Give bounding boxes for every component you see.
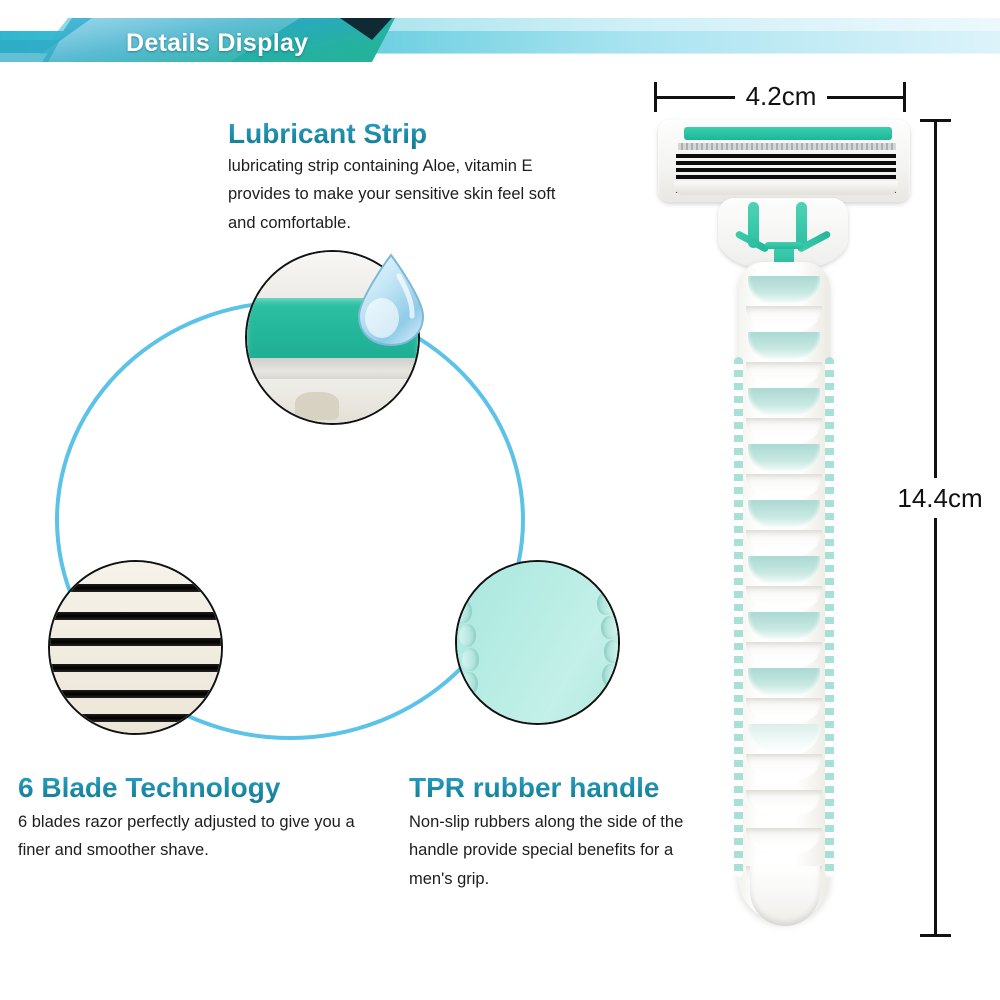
feature-heading-lubricant: Lubricant Strip (228, 118, 427, 150)
razor-pivot-head (718, 198, 848, 270)
handle-grip-right (825, 357, 834, 877)
blade-stripes-photo (50, 562, 221, 733)
header-banner: Details Display (0, 10, 1000, 62)
width-dimension-label: 4.2cm (735, 78, 827, 114)
feature-heading-blades: 6 Blade Technology (18, 772, 280, 804)
feature-body-blades: 6 blades razor perfectly adjusted to giv… (18, 808, 358, 865)
cartridge-guard-bar (678, 143, 896, 150)
razor-product-image (640, 110, 920, 940)
razor-handle (728, 262, 840, 922)
callout-circle-tpr (455, 560, 620, 725)
handle-grip-left (734, 357, 743, 877)
height-dimension-label: 14.4cm (884, 478, 996, 518)
banner-title: Details Display (126, 29, 308, 58)
feature-heading-tpr: TPR rubber handle (409, 772, 659, 804)
cartridge-lubricant-strip (684, 127, 892, 140)
infographic-canvas: Details Display Lubricant Strip lubricat… (0, 0, 1000, 1000)
rubber-grip-photo (457, 562, 618, 723)
callout-circle-blades (48, 560, 223, 735)
feature-body-lubricant: lubricating strip containing Aloe, vitam… (228, 152, 578, 237)
water-droplet-icon (355, 252, 427, 348)
razor-cartridge (658, 120, 910, 202)
